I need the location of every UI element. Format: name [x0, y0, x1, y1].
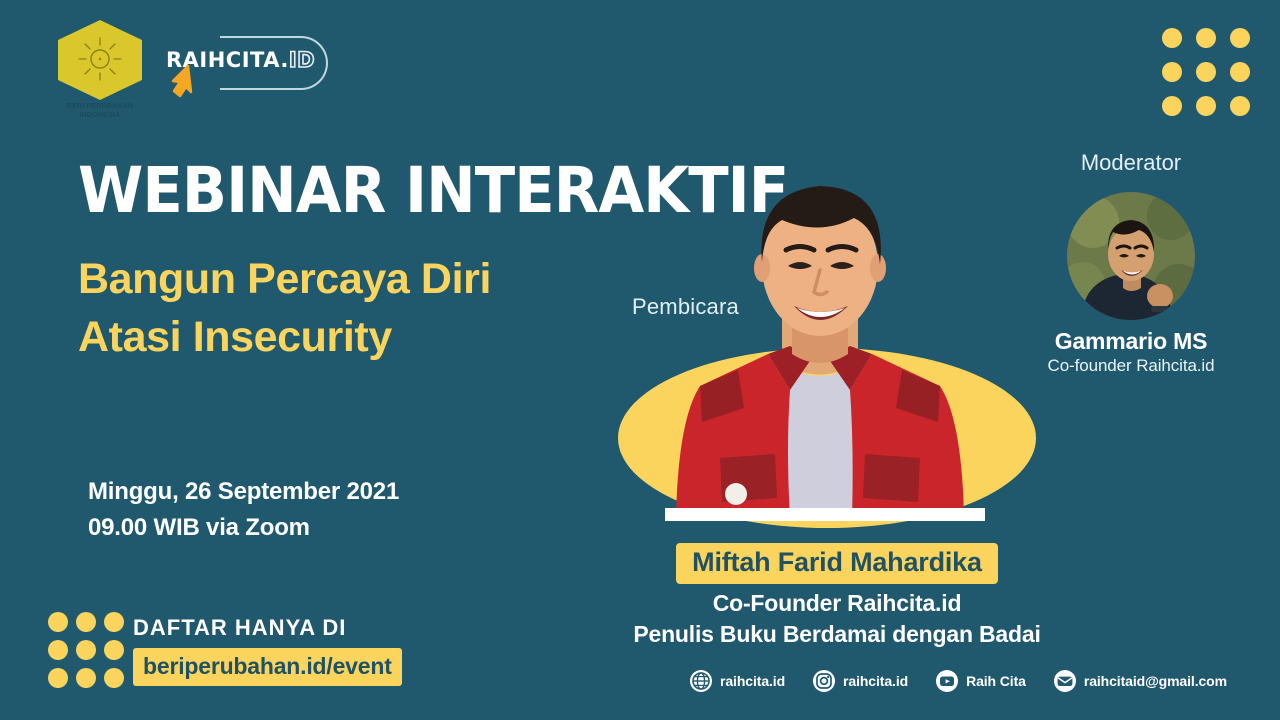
decor-dot: [104, 668, 124, 688]
subtitle-line-2: Atasi Insecurity: [78, 308, 678, 366]
decor-dot: [76, 668, 96, 688]
schedule-date: Minggu, 26 September 2021: [88, 474, 399, 510]
social-label-youtube: Raih Cita: [966, 673, 1026, 689]
raihcita-logo: RAIHCITA.ID: [160, 36, 330, 98]
page-title: WEBINAR INTERAKTIF: [78, 158, 642, 224]
decor-dot: [1196, 62, 1216, 82]
email-icon: [1054, 670, 1076, 692]
decor-dot: [48, 668, 68, 688]
hexagon-caption: BERI PERUBAHAN INDONESIA: [52, 102, 148, 120]
webinar-poster: BERI PERUBAHAN INDONESIA RAIHCITA.ID: [0, 0, 1280, 720]
decor-dot: [76, 640, 96, 660]
beri-perubahan-logo: BERI PERUBAHAN INDONESIA: [58, 20, 142, 114]
moderator-title: Co-founder Raihcita.id: [1020, 356, 1242, 376]
register-link[interactable]: beriperubahan.id/event: [133, 648, 402, 686]
social-item-email[interactable]: raihcitaid@gmail.com: [1054, 670, 1227, 692]
moderator-avatar: [1067, 192, 1195, 320]
subtitle-line-1: Bangun Percaya Diri: [78, 250, 678, 308]
schedule-time: 09.00 WIB via Zoom: [88, 510, 399, 546]
speaker-name: Miftah Farid Mahardika: [676, 543, 998, 584]
decor-dot: [76, 612, 96, 632]
social-label-instagram: raihcita.id: [843, 673, 908, 689]
decor-dot: [104, 640, 124, 660]
headline-block: WEBINAR INTERAKTIF Bangun Percaya Diri A…: [78, 158, 678, 366]
speaker-white-bar: [665, 508, 985, 521]
instagram-icon: [813, 670, 835, 692]
globe-icon: [690, 670, 712, 692]
speaker-name-container: Miftah Farid Mahardika: [632, 543, 1042, 584]
decor-dot: [1196, 96, 1216, 116]
brand-lockup: BERI PERUBAHAN INDONESIA RAIHCITA.ID: [48, 18, 348, 128]
social-item-youtube[interactable]: Raih Cita: [936, 670, 1026, 692]
cursor-arrow-icon: [168, 64, 202, 104]
decor-dot: [1230, 28, 1250, 48]
social-item-website[interactable]: raihcita.id: [690, 670, 785, 692]
hexagon-caption-line2: INDONESIA: [52, 111, 148, 120]
speaker-photo: [640, 158, 1000, 518]
dot-grid-top-right: [1162, 28, 1250, 116]
decor-dot: [48, 612, 68, 632]
decor-dot: [1162, 96, 1182, 116]
decor-dot: [1162, 62, 1182, 82]
schedule-block: Minggu, 26 September 2021 09.00 WIB via …: [88, 474, 399, 546]
decor-dot: [104, 612, 124, 632]
social-label-website: raihcita.id: [720, 673, 785, 689]
sun-icon: [77, 36, 123, 82]
speaker-title-block: Co-Founder Raihcita.id Penulis Buku Berd…: [592, 588, 1082, 650]
register-label: DAFTAR HANYA DI: [133, 614, 463, 642]
decor-dot: [1230, 62, 1250, 82]
social-links-row: raihcita.id raihcita.id Raih Cita: [690, 670, 1227, 692]
decor-dot: [48, 640, 68, 660]
youtube-icon: [936, 670, 958, 692]
registration-block: DAFTAR HANYA DI beriperubahan.id/event: [133, 614, 463, 686]
speaker-title-line-1: Co-Founder Raihcita.id: [592, 588, 1082, 619]
logo-wordmark-suffix: ID: [289, 48, 315, 72]
social-item-instagram[interactable]: raihcita.id: [813, 670, 908, 692]
speaker-title-line-2: Penulis Buku Berdamai dengan Badai: [592, 619, 1082, 650]
moderator-role-label: Moderator: [1040, 150, 1222, 176]
moderator-name: Gammario MS: [1030, 328, 1232, 355]
decor-dot: [1162, 28, 1182, 48]
decor-dot: [1230, 96, 1250, 116]
dot-grid-bottom-left: [48, 612, 124, 688]
social-label-email: raihcitaid@gmail.com: [1084, 673, 1227, 689]
hexagon-caption-line1: BERI PERUBAHAN: [52, 102, 148, 111]
subtitle-block: Bangun Percaya Diri Atasi Insecurity: [78, 250, 678, 366]
decor-dot: [1196, 28, 1216, 48]
